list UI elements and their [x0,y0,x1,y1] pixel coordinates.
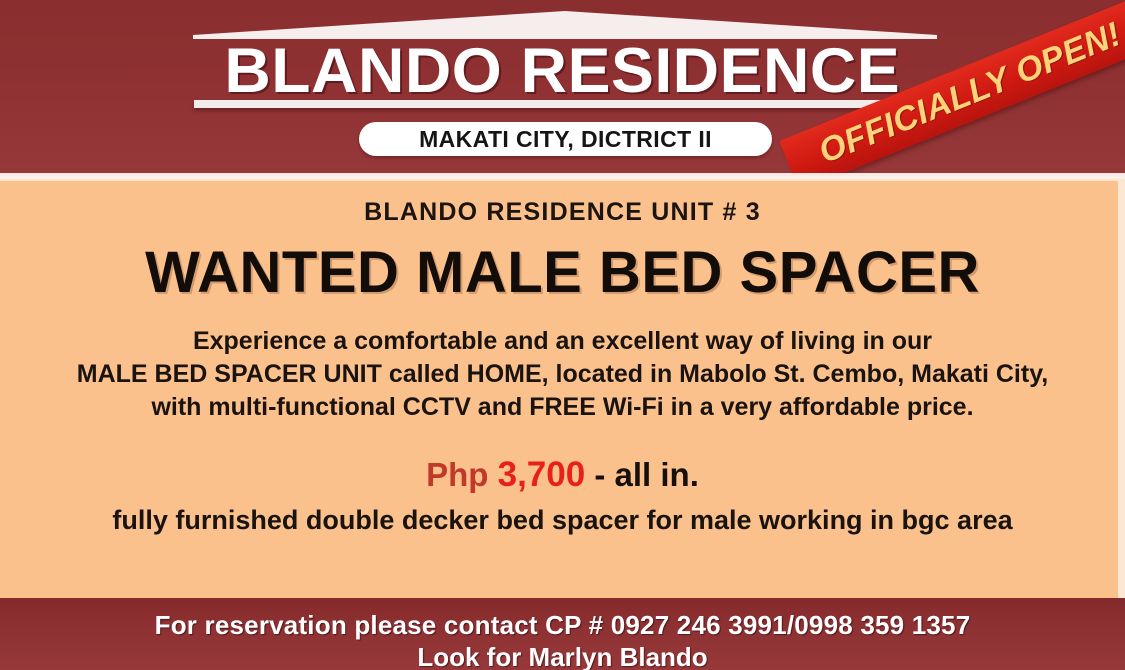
body-right-edge-strip [1118,181,1125,598]
page-title: BLANDO RESIDENCE [225,40,901,102]
poster-footer: For reservation please contact CP # 0927… [0,598,1125,670]
description-line: MALE BED SPACER UNIT called HOME, locate… [0,358,1125,391]
footer-contact-person: Look for Marlyn Blando [0,641,1125,670]
footer-contact-line: For reservation please contact CP # 0927… [0,598,1125,641]
roof-pediment-icon [193,11,937,39]
poster-root: BLANDO RESIDENCE MAKATI CITY, DICTRICT I… [0,0,1125,670]
poster-body: BLANDO RESIDENCE UNIT # 3 WANTED MALE BE… [0,181,1125,598]
description-paragraph: Experience a comfortable and an excellen… [0,325,1125,424]
headline: WANTED MALE BED SPACER [0,243,1125,303]
description-line: with multi-functional CCTV and FREE Wi-F… [0,391,1125,424]
price-currency: Php [426,456,488,493]
unit-number-line: BLANDO RESIDENCE UNIT # 3 [0,198,1125,227]
header-body-divider [0,173,1125,181]
location-pill-label: MAKATI CITY, DICTRICT II [419,126,712,153]
tagline: fully furnished double decker bed spacer… [0,504,1125,537]
poster-header: BLANDO RESIDENCE MAKATI CITY, DICTRICT I… [0,0,1125,173]
title-underline-rule [194,100,936,108]
price-amount: 3,700 [498,455,586,494]
price-line: Php 3,700 - all in. [0,456,1125,494]
price-suffix: - all in. [594,456,699,493]
location-pill: MAKATI CITY, DICTRICT II [359,122,772,156]
description-line: Experience a comfortable and an excellen… [0,325,1125,358]
